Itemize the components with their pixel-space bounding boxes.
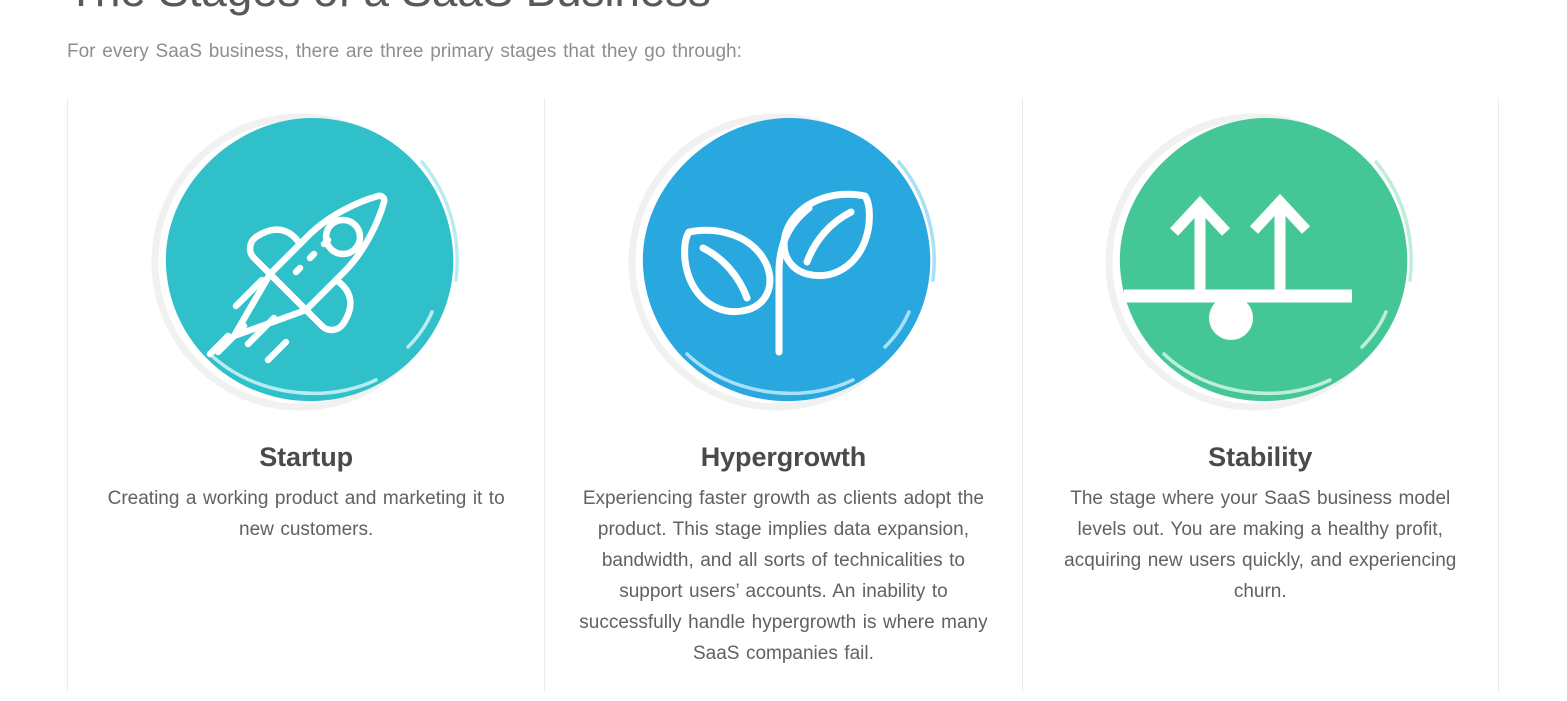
balance-scale-icon: [1104, 104, 1416, 422]
rocket-icon: [150, 104, 462, 422]
stage-title: Hypergrowth: [701, 441, 866, 473]
stages-columns: Startup Creating a working product and m…: [67, 98, 1499, 692]
stage-description: The stage where your SaaS business model…: [1045, 483, 1476, 607]
stage-card-hypergrowth: Hypergrowth Experiencing faster growth a…: [544, 98, 1021, 692]
stage-description: Creating a working product and marketing…: [90, 483, 522, 545]
stage-card-stability: Stability The stage where your SaaS busi…: [1022, 98, 1499, 692]
page-header: The Stages of a SaaS Business: [67, 0, 1507, 18]
stage-card-startup: Startup Creating a working product and m…: [67, 98, 544, 692]
page-subtitle: For every SaaS business, there are three…: [67, 39, 742, 65]
stage-description: Experiencing faster growth as clients ad…: [567, 483, 999, 669]
stages-infographic-page: The Stages of a SaaS Business For every …: [0, 0, 1567, 701]
stage-title: Startup: [259, 441, 353, 473]
stage-title: Stability: [1208, 441, 1312, 473]
sprout-icon: [627, 104, 939, 422]
page-title: The Stages of a SaaS Business: [67, 0, 1507, 18]
